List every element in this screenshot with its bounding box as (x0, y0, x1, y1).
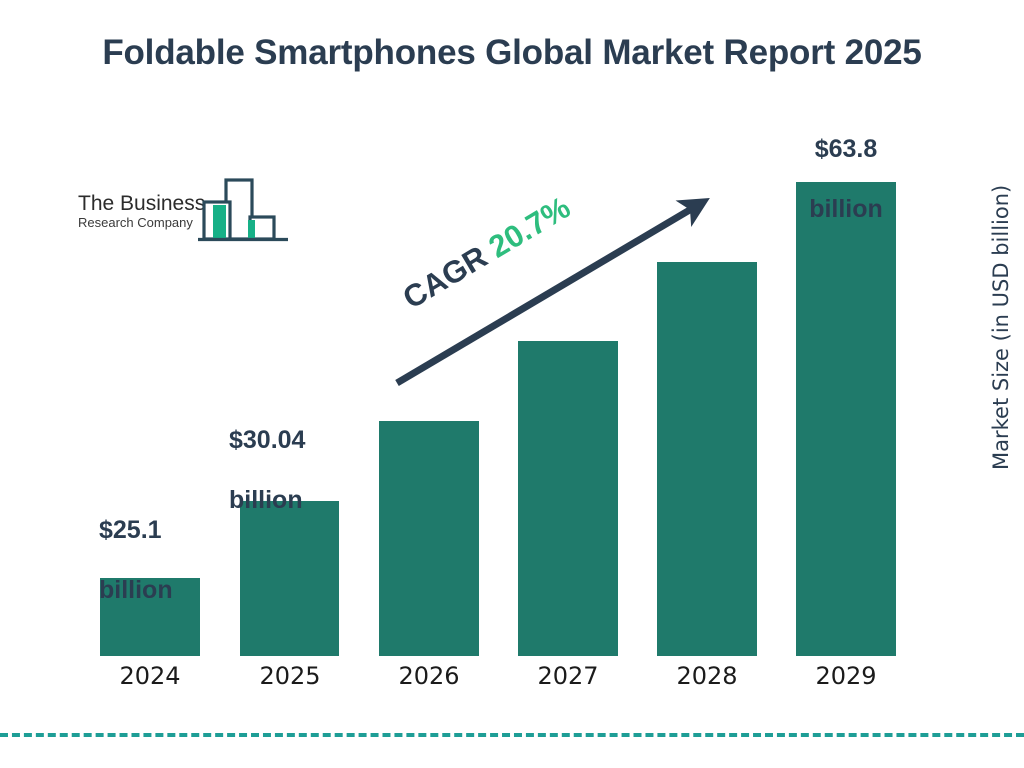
value-label-2024: $25.1 billion (99, 485, 219, 635)
y-axis-title: Market Size (in USD billion) (989, 190, 1013, 470)
x-tick-2025: 2025 (240, 662, 340, 690)
value-label-2029-line1: $63.8 (786, 134, 906, 164)
footer-divider (0, 733, 1024, 737)
bar-2026[interactable] (379, 421, 479, 656)
value-label-2029-line2: billion (786, 194, 906, 224)
value-label-2029: $63.8 billion (786, 104, 906, 254)
x-tick-2028: 2028 (657, 662, 757, 690)
chart-canvas: Foldable Smartphones Global Market Repor… (0, 0, 1024, 768)
x-tick-2029: 2029 (796, 662, 896, 690)
value-label-2024-line2: billion (99, 575, 219, 605)
value-label-2025: $30.04 billion (229, 395, 369, 545)
x-tick-2027: 2027 (518, 662, 618, 690)
x-tick-2024: 2024 (100, 662, 200, 690)
bar-2027[interactable] (518, 341, 618, 656)
bar-2028[interactable] (657, 262, 757, 656)
value-label-2025-line2: billion (229, 485, 369, 515)
bar-chart-plot: $25.1 billion $30.04 billion $63.8 billi… (0, 0, 1024, 768)
value-label-2024-line1: $25.1 (99, 515, 219, 545)
x-tick-2026: 2026 (379, 662, 479, 690)
value-label-2025-line1: $30.04 (229, 425, 369, 455)
